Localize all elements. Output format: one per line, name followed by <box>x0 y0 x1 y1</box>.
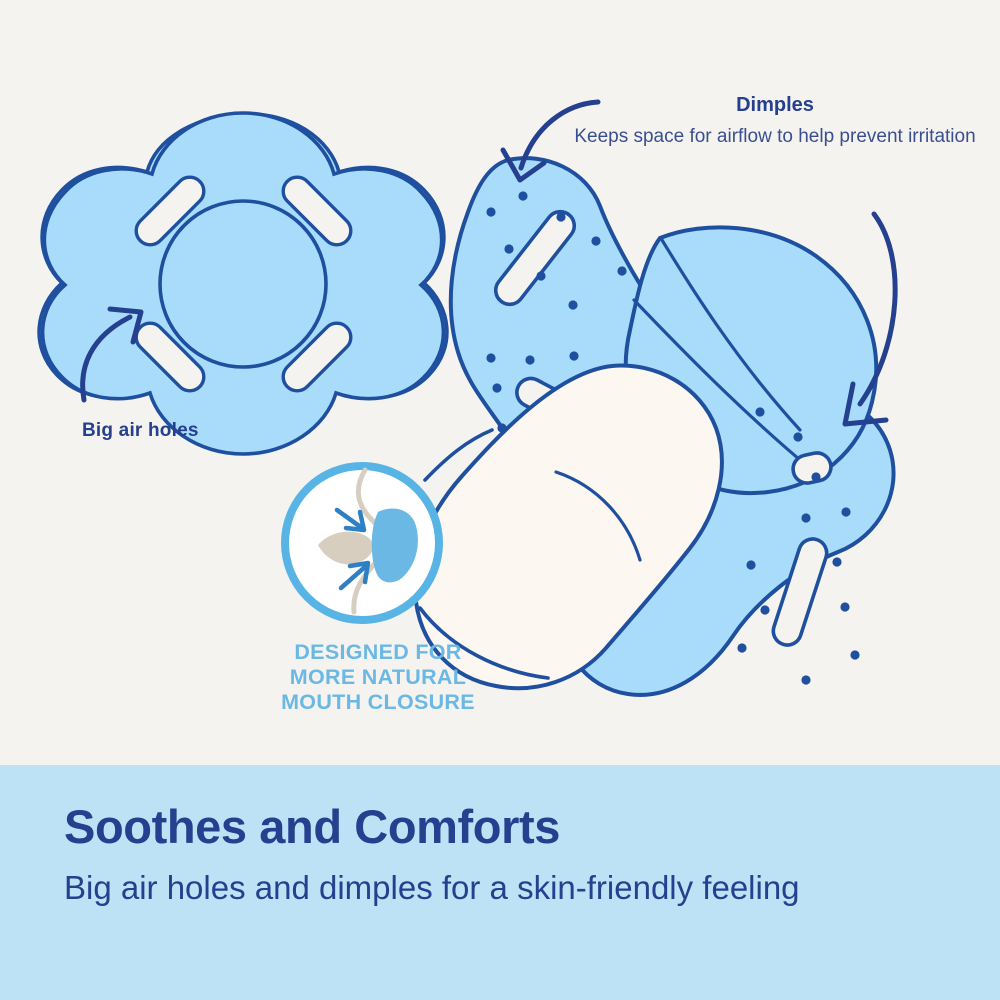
infographic-canvas: Dimples Keeps space for airflow to help … <box>0 0 1000 1000</box>
dimples-description: Keeps space for airflow to help prevent … <box>560 121 990 152</box>
badge-caption: DESIGNED FOR MORE NATURAL MOUTH CLOSURE <box>238 640 518 715</box>
mouth-closure-badge <box>285 466 439 620</box>
pacifier-angled-view <box>415 158 894 695</box>
big-air-holes-label: Big air holes <box>82 420 199 442</box>
bottom-banner: Soothes and Comforts Big air holes and d… <box>0 765 1000 1000</box>
banner-subtitle: Big air holes and dimples for a skin-fri… <box>64 863 936 913</box>
illustration-area: Dimples Keeps space for airflow to help … <box>0 0 1000 765</box>
front-center-circle <box>160 201 326 367</box>
badge-caption-line-1: DESIGNED FOR <box>238 640 518 665</box>
banner-title: Soothes and Comforts <box>64 799 936 855</box>
pacifier-front-view <box>39 113 447 454</box>
badge-caption-line-3: MOUTH CLOSURE <box>238 690 518 715</box>
dimples-title: Dimples <box>560 92 990 118</box>
badge-caption-line-2: MORE NATURAL <box>238 665 518 690</box>
dimples-annotation: Dimples Keeps space for airflow to help … <box>560 92 990 152</box>
